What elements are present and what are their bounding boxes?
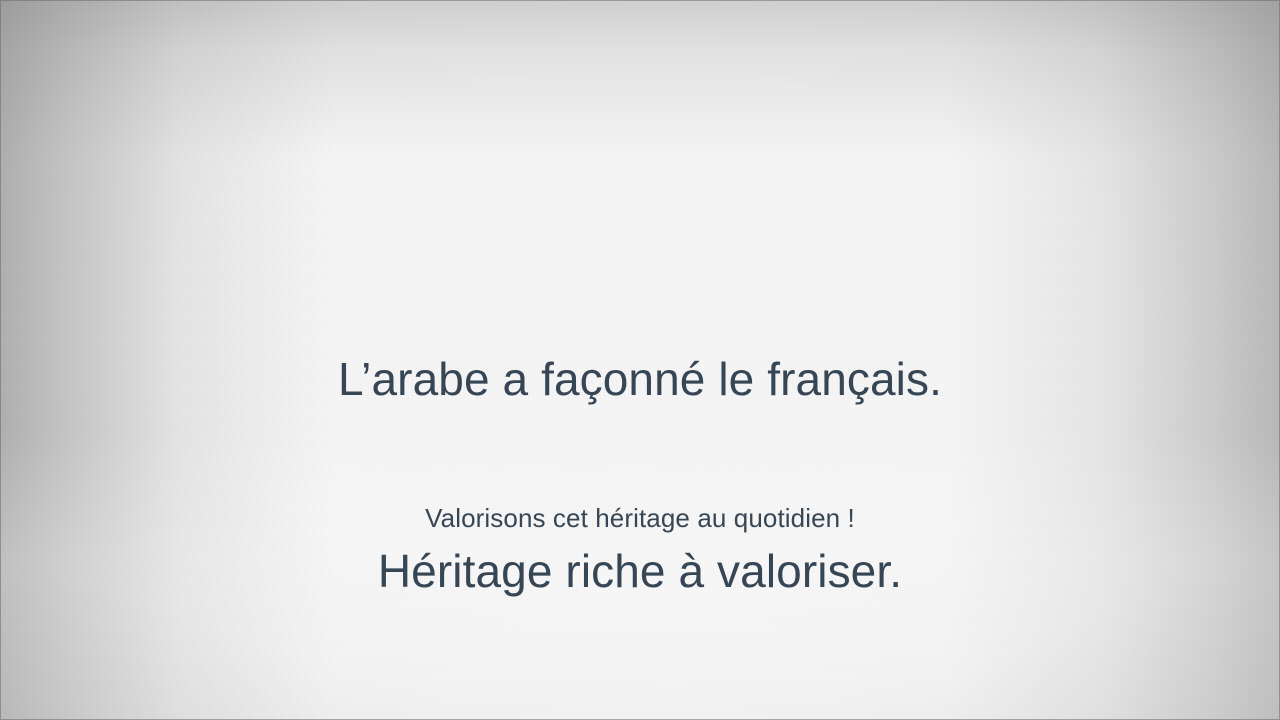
slide-title: L’arabe a façonné le français. Héritage … [0,219,1280,720]
title-line-1: L’arabe a façonné le français. [0,347,1280,411]
title-line-2: Héritage riche à valoriser. [0,539,1280,603]
slide-content: L’arabe a façonné le français. Héritage … [0,0,1280,720]
slide-subtitle: Valorisons cet héritage au quotidien ! [0,502,1280,534]
slide-canvas: L’arabe a façonné le français. Héritage … [0,0,1280,720]
